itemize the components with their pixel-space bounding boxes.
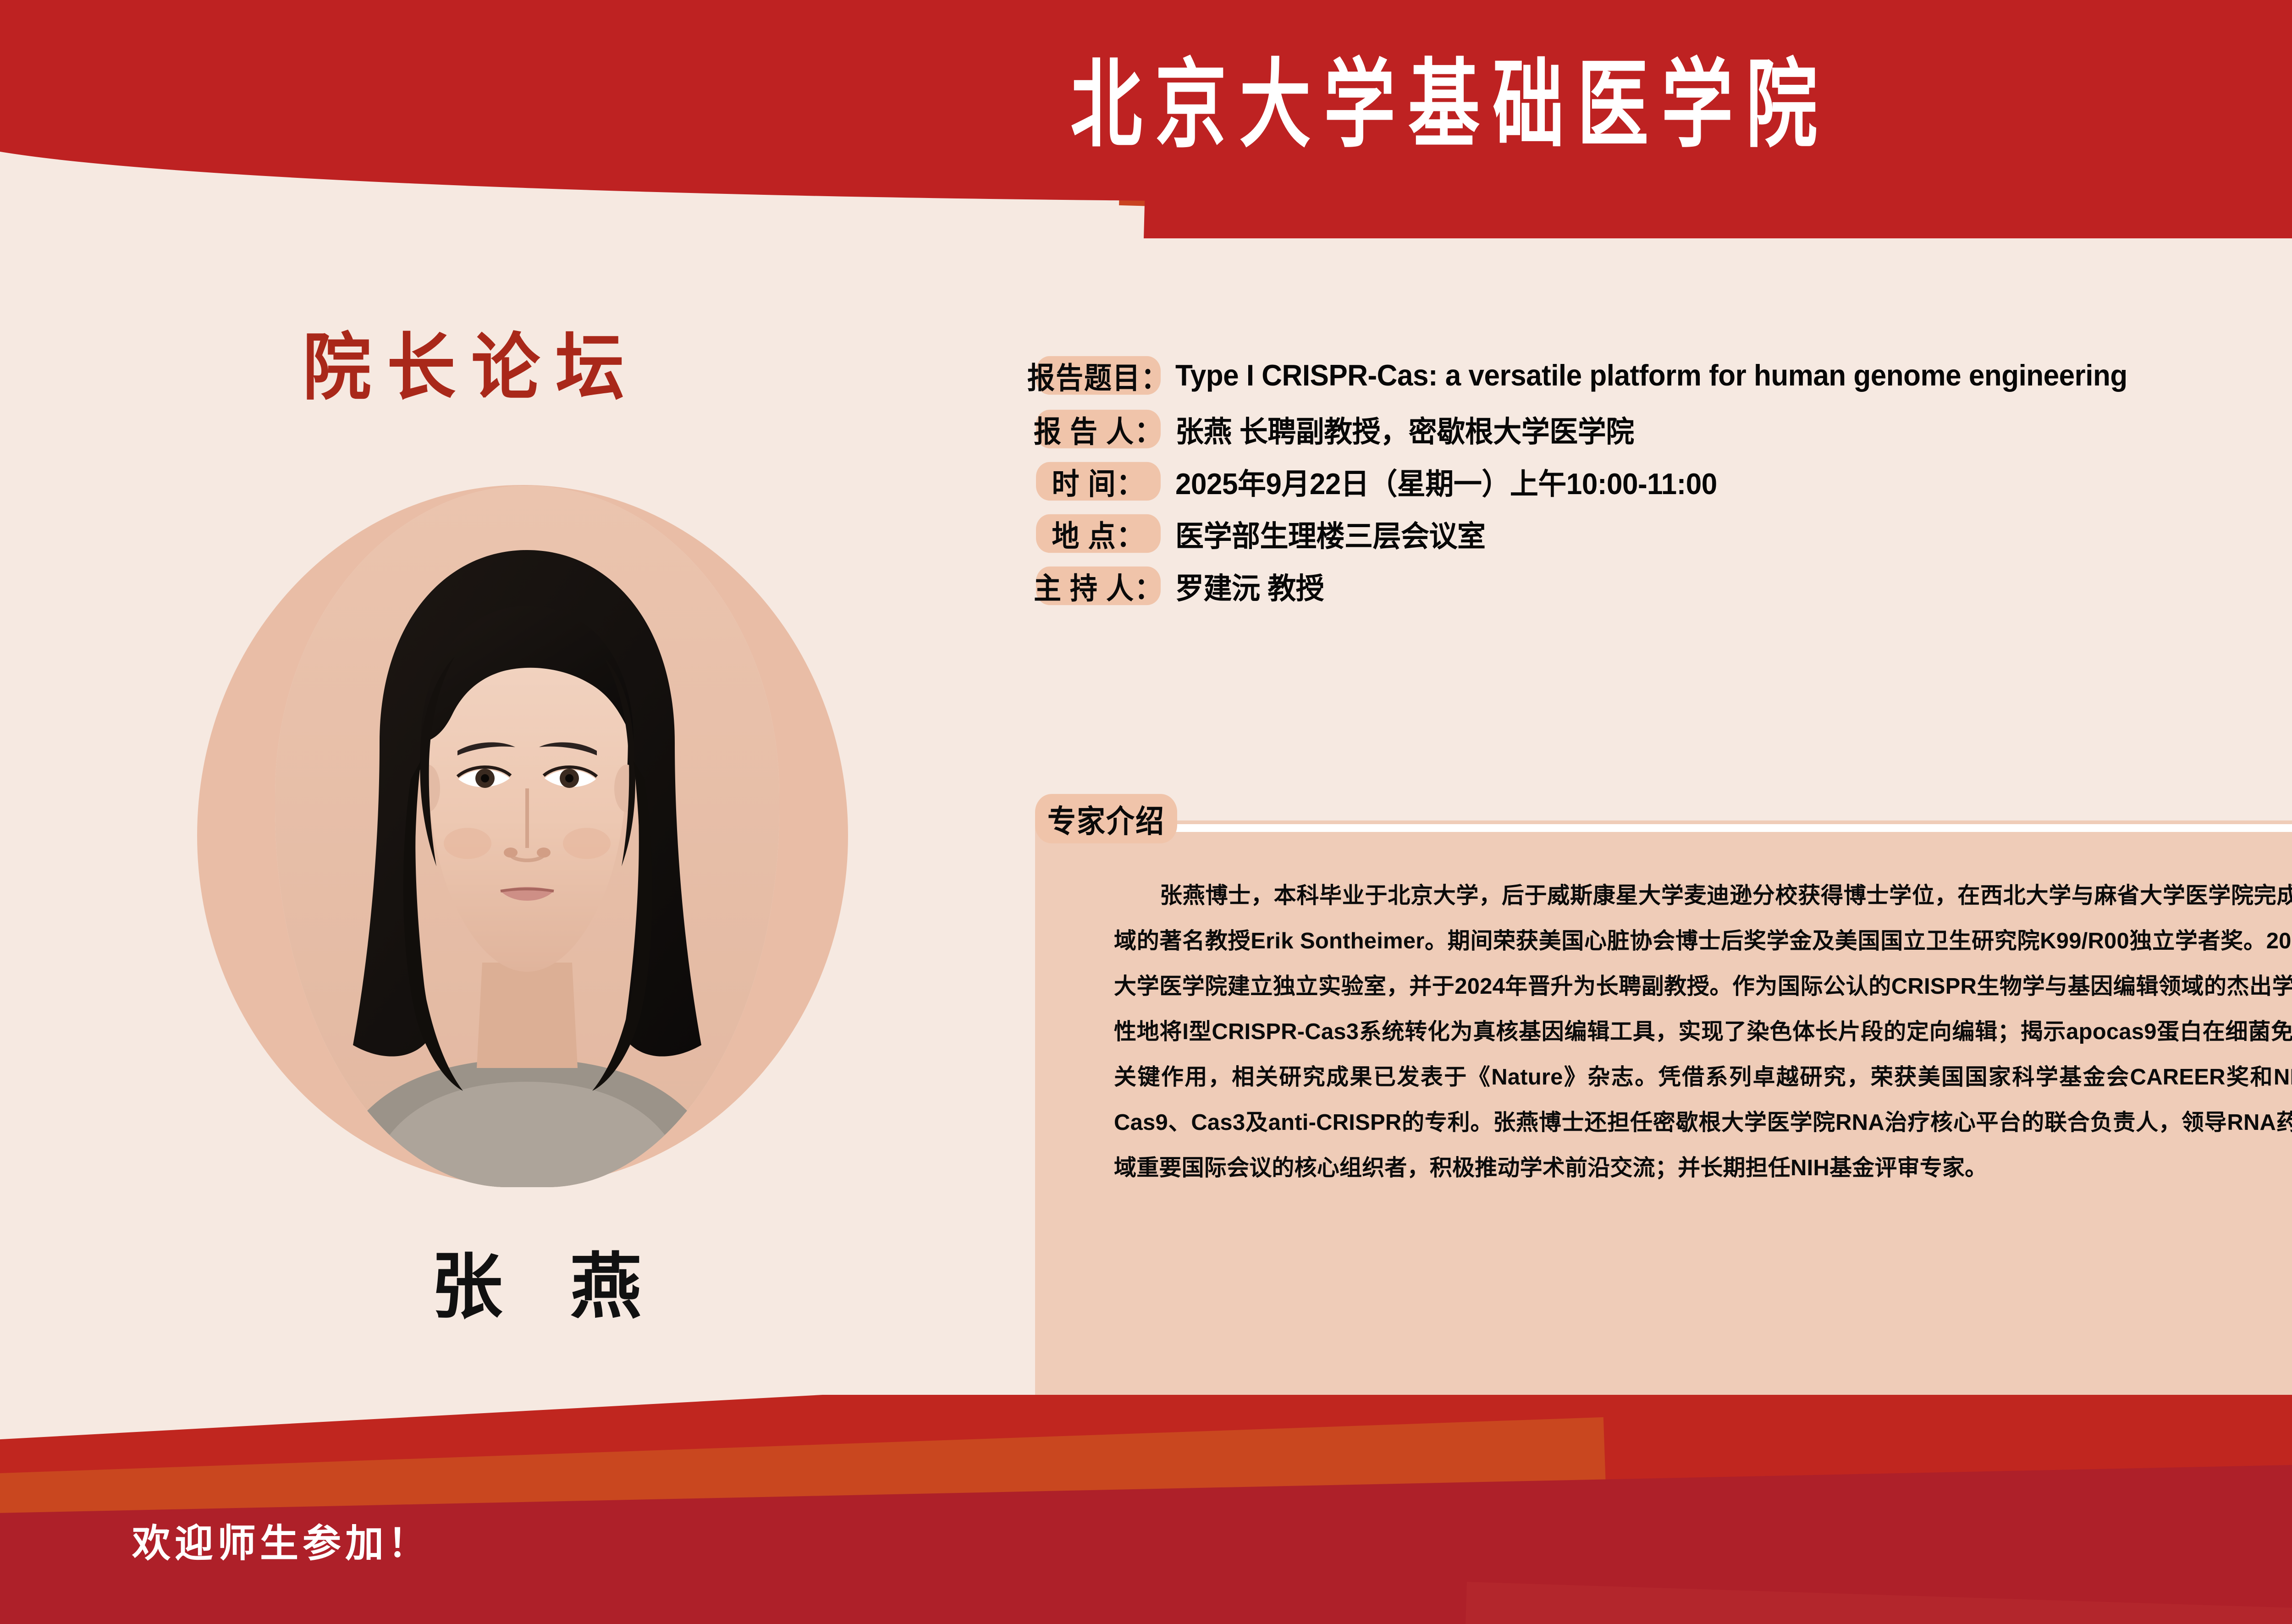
bio-paragraph: 张燕博士，本科毕业于北京大学，后于威斯康星大学麦迪逊分校获得博士学位，在西北大学…	[1114, 873, 2292, 1191]
forum-title: 院长论坛	[303, 308, 853, 414]
info-label-speaker: 报 告 人：	[1036, 410, 1161, 448]
bio-text-block: 张燕博士，本科毕业于北京大学，后于威斯康星大学麦迪逊分校获得博士学位，在西北大学…	[1114, 873, 2292, 1191]
info-label-host: 主 持 人：	[1036, 567, 1161, 605]
info-value-time: 2025年9月22日（星期一）上午10:00-11:00	[1175, 460, 1717, 503]
info-value-title: Type I CRISPR-Cas: a versatile platform …	[1175, 358, 2127, 392]
footer-banner	[0, 1395, 2292, 1624]
bio-divider	[1155, 824, 2292, 832]
footer-welcome-text: 欢迎师生参加！	[132, 1513, 430, 1568]
bio-section-label: 专家介绍	[1035, 794, 1177, 843]
info-label-time: 时 间：	[1036, 462, 1161, 501]
info-row-host: 主 持 人： 罗建沅 教授	[1036, 560, 2292, 611]
info-row-title: 报告题目： Type I CRISPR-Cas: a versatile pla…	[1036, 348, 2292, 402]
portrait-illustration	[275, 486, 779, 1187]
info-row-speaker: 报 告 人： 张燕 长聘副教授，密歇根大学医学院	[1036, 403, 2292, 455]
info-row-location: 地 点： 医学部生理楼三层会议室	[1036, 508, 2292, 559]
info-value-location: 医学部生理楼三层会议室	[1175, 512, 1486, 555]
institution-title-text: 北京大学基础医学院	[1058, 27, 1830, 166]
info-value-speaker: 张燕 长聘副教授，密歇根大学医学院	[1175, 407, 1634, 451]
talk-info-list: 报告题目： Type I CRISPR-Cas: a versatile pla…	[1036, 348, 2292, 611]
speaker-name: 张 燕	[284, 1228, 788, 1332]
page-title: 北京大学基础医学院	[0, 0, 2292, 193]
info-value-host: 罗建沅 教授	[1175, 564, 1324, 607]
info-row-time: 时 间： 2025年9月22日（星期一）上午10:00-11:00	[1036, 456, 2292, 507]
info-label-title: 报告题目：	[1036, 356, 1161, 395]
info-label-location: 地 点：	[1036, 514, 1161, 553]
avatar	[275, 486, 779, 1187]
